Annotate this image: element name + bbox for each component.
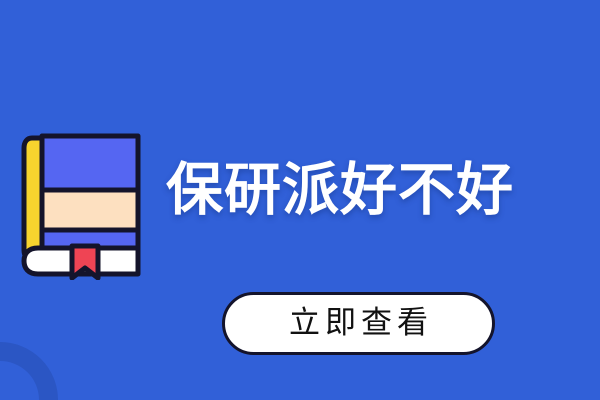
decorative-ring bbox=[0, 342, 58, 400]
page-title: 保研派好不好 bbox=[166, 152, 566, 228]
book-icon bbox=[18, 128, 148, 280]
view-now-button-label: 立即查看 bbox=[284, 308, 433, 339]
view-now-button[interactable]: 立即查看 bbox=[222, 292, 495, 355]
promo-banner: 保研派好不好 立即查看 bbox=[0, 0, 600, 400]
